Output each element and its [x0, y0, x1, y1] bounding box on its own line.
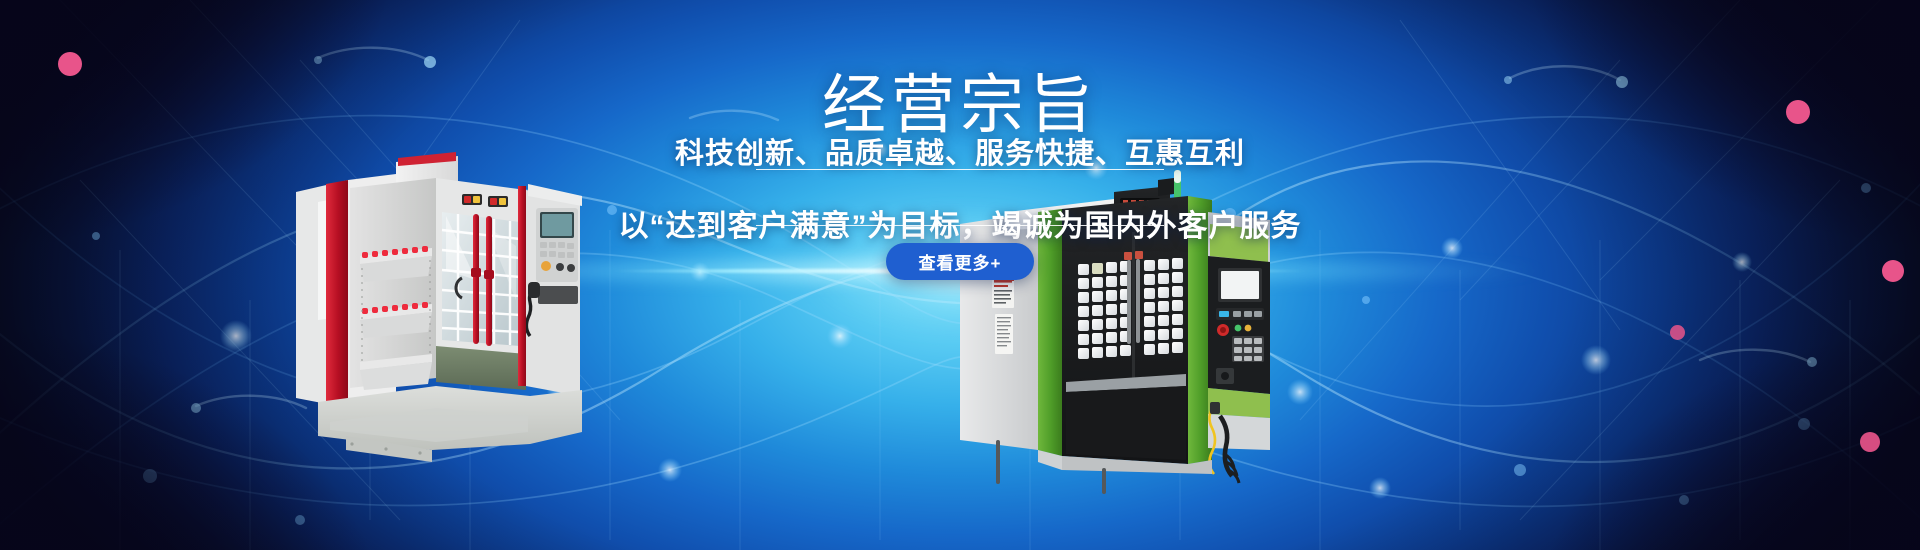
hero-tagline: 以“达到客户满意”为目标，竭诚为国内外客户服务: [619, 207, 1302, 248]
accent-dot-right-mid: [1670, 325, 1685, 340]
divider-top: [756, 169, 1164, 170]
page-title: 经营宗旨: [822, 73, 1098, 137]
accent-dot-right-upper: [1882, 260, 1904, 282]
view-more-button[interactable]: 查看更多+: [886, 243, 1034, 280]
machine-image-left: [290, 150, 610, 470]
divider-bottom: [756, 225, 1164, 226]
accent-dot-right-lower: [1860, 432, 1880, 452]
accent-dot-top-right: [1786, 100, 1810, 124]
hero-banner: 经营宗旨 科技创新、品质卓越、服务快捷、互惠互利 以“达到客户满意”为目标，竭诚…: [0, 0, 1920, 550]
accent-dot-top-left: [58, 52, 82, 76]
